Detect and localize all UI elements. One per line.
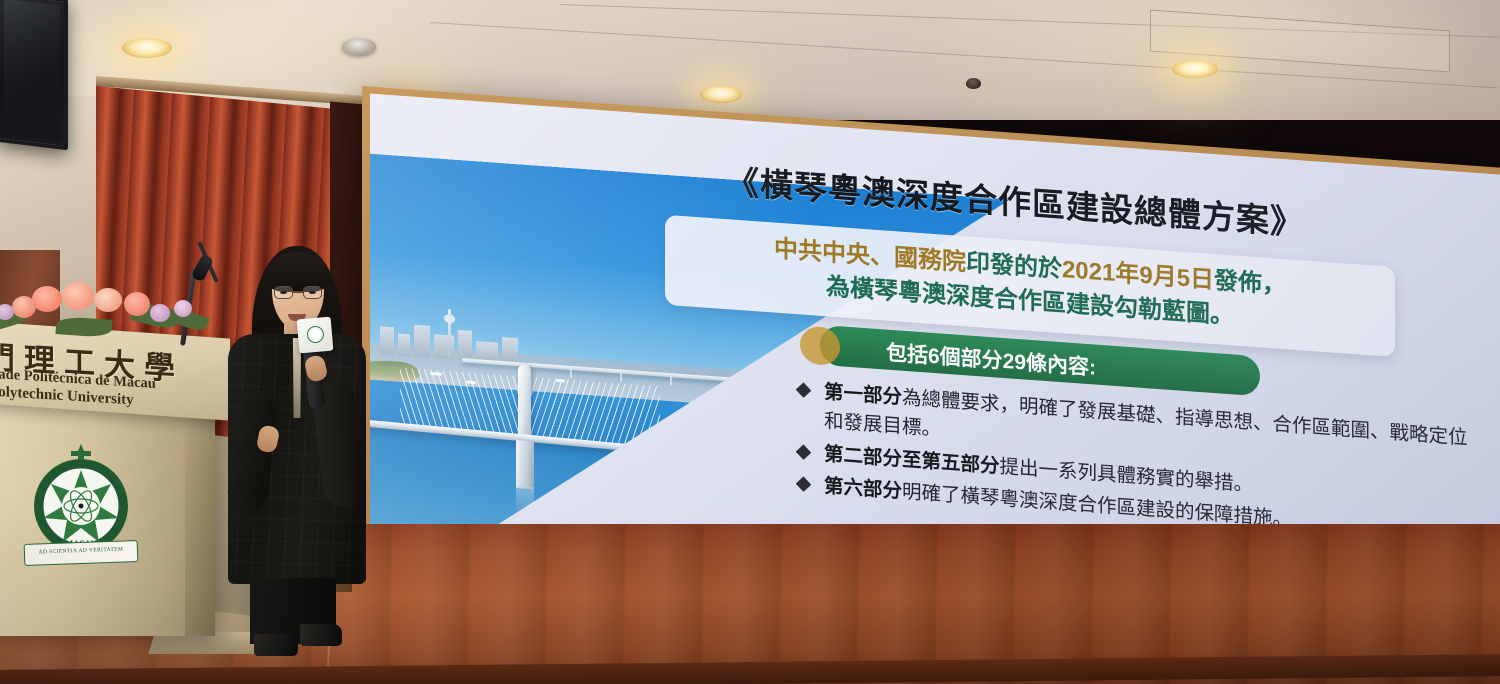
ceiling-downlight bbox=[122, 38, 172, 58]
flower bbox=[150, 304, 170, 322]
diamond-bullet-icon bbox=[796, 476, 812, 492]
skyline-building bbox=[398, 334, 410, 357]
ceiling-speaker-icon bbox=[966, 78, 981, 89]
distant-bridge-pier bbox=[620, 372, 622, 381]
smoke-detector-icon bbox=[342, 38, 376, 55]
ceiling-downlight bbox=[1172, 60, 1218, 78]
auditorium-scene: 《橫琴粵澳深度合作區建設總體方案》 中共中央、國務院印發的於2021年9月5日發… bbox=[0, 0, 1500, 684]
wall-mounted-monitor bbox=[0, 0, 68, 150]
flower bbox=[174, 300, 192, 317]
flower-arrangement bbox=[0, 278, 217, 340]
bridge-pylon bbox=[518, 364, 531, 443]
distant-bridge-pier bbox=[670, 376, 672, 385]
skyline-building bbox=[380, 326, 394, 355]
skyline-building bbox=[458, 330, 472, 361]
microphone-flag-cube bbox=[297, 317, 334, 354]
glasses-icon bbox=[274, 286, 322, 299]
subtitle-green-a: 印發的於 bbox=[966, 249, 1062, 283]
diamond-bullet-icon bbox=[796, 382, 812, 398]
flower bbox=[124, 292, 150, 316]
microphone-logo-icon bbox=[306, 325, 324, 343]
subtitle-green-b: 發佈， bbox=[1214, 267, 1286, 299]
boat bbox=[556, 379, 565, 383]
skyline-building bbox=[434, 334, 454, 359]
emblem-motto: AD SCIENTIA AD VERITATEM bbox=[25, 546, 137, 556]
bridge-pier bbox=[516, 440, 534, 489]
boot bbox=[254, 634, 298, 656]
leaf bbox=[55, 316, 112, 338]
macau-tower-icon bbox=[448, 309, 451, 359]
speaker-person bbox=[222, 242, 372, 642]
bullet-bold: 第六部分 bbox=[824, 475, 902, 503]
ceiling-downlight bbox=[700, 86, 742, 103]
flower bbox=[12, 296, 36, 318]
skyline-building bbox=[414, 325, 430, 358]
boot bbox=[300, 624, 342, 646]
boat bbox=[466, 380, 476, 384]
emblem-ribbon: AD SCIENTIA AD VERITATEM bbox=[24, 540, 139, 566]
skyline-building bbox=[502, 337, 518, 364]
university-emblem: MACAU AD SCIENTIA AD VERITATEM bbox=[22, 440, 140, 568]
glasses-bridge bbox=[293, 291, 303, 293]
monitor-screen bbox=[4, 0, 60, 141]
diamond-bullet-icon bbox=[796, 444, 812, 460]
bullet-bold: 第二部分至第五部分 bbox=[824, 443, 1000, 478]
flower bbox=[32, 286, 62, 312]
flower bbox=[94, 288, 122, 312]
distant-bridge-pier bbox=[570, 369, 572, 378]
eye bbox=[280, 291, 287, 294]
eye bbox=[309, 291, 316, 294]
flower bbox=[62, 282, 94, 310]
bullet-bold: 第一部分 bbox=[824, 381, 902, 409]
